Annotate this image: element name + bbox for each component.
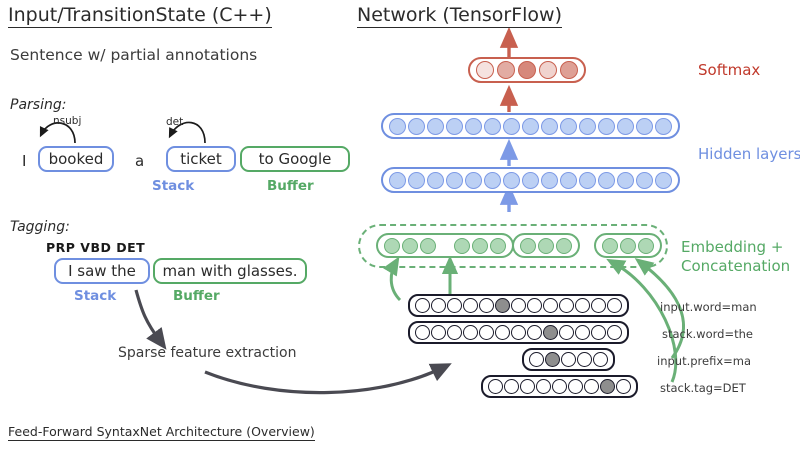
node-hollow	[504, 379, 519, 394]
node-blue	[560, 172, 577, 189]
node-filled	[543, 325, 558, 340]
tagging-stack-box[interactable]: I saw the	[54, 258, 150, 284]
node-blue	[465, 118, 482, 135]
node-hollow	[536, 379, 551, 394]
node-hollow	[488, 379, 503, 394]
embedding-group-0[interactable]	[376, 233, 514, 258]
feature-label-2: input.prefix=ma	[657, 354, 751, 368]
node-blue	[522, 118, 539, 135]
node-red	[539, 61, 557, 79]
parse-token-booked[interactable]: booked	[38, 146, 114, 172]
node-blue	[636, 118, 653, 135]
arc-label-det: det	[166, 116, 183, 128]
node-green	[472, 238, 488, 254]
node-green	[520, 238, 536, 254]
tagging-buffer-box[interactable]: man with glasses.	[153, 258, 307, 284]
node-red	[476, 61, 494, 79]
parse-token-booked-label: booked	[49, 150, 104, 168]
node-blue	[617, 172, 634, 189]
hidden-layer-top[interactable]	[381, 113, 680, 139]
node-blue	[427, 118, 444, 135]
node-hollow	[591, 325, 606, 340]
node-red	[518, 61, 536, 79]
node-hollow	[431, 325, 446, 340]
node-green	[384, 238, 400, 254]
sparse-vector-row-1[interactable]	[408, 321, 629, 344]
node-blue	[617, 118, 634, 135]
node-blue	[484, 118, 501, 135]
node-hollow	[415, 325, 430, 340]
node-blue	[636, 172, 653, 189]
node-hollow	[415, 298, 430, 313]
left-panel-title: Input/TransitionState (C++)	[8, 6, 272, 28]
node-hollow	[431, 298, 446, 313]
node-filled	[495, 298, 510, 313]
node-green	[402, 238, 418, 254]
node-blue	[655, 118, 672, 135]
node-hollow	[616, 379, 631, 394]
sparse-feature-extraction-label: Sparse feature extraction	[118, 345, 296, 361]
node-blue	[408, 172, 425, 189]
node-hollow	[593, 352, 608, 367]
node-hollow	[479, 325, 494, 340]
embedding-concatenation-label: Embedding + Concatenation	[681, 238, 790, 276]
node-blue	[598, 118, 615, 135]
node-green	[556, 238, 572, 254]
tagging-buffer-tokens: man with glasses.	[163, 262, 298, 280]
node-hollow	[575, 325, 590, 340]
node-blue	[655, 172, 672, 189]
parsing-section-label: Parsing:	[10, 97, 66, 113]
node-hollow	[529, 352, 544, 367]
node-red	[560, 61, 578, 79]
feature-label-1: stack.word=the	[662, 327, 753, 341]
parse-token-buffer-group[interactable]: to Google	[240, 146, 350, 172]
footer-caption: Feed-Forward SyntaxNet Architecture (Ove…	[8, 424, 315, 441]
node-green	[490, 238, 506, 254]
arc-label-nsubj: nsubj	[53, 115, 81, 127]
node-hollow	[479, 298, 494, 313]
tagging-buffer-label: Buffer	[173, 288, 220, 304]
left-panel-subtitle: Sentence w/ partial annotations	[10, 46, 257, 64]
node-green	[620, 238, 636, 254]
node-green	[638, 238, 654, 254]
node-filled	[545, 352, 560, 367]
parse-token-i: I	[22, 152, 26, 170]
node-blue	[427, 172, 444, 189]
diagram-canvas: Input/TransitionState (C++) Sentence w/ …	[0, 0, 800, 450]
node-blue	[598, 172, 615, 189]
softmax-label: Softmax	[698, 61, 760, 79]
node-green	[420, 238, 436, 254]
node-green	[454, 238, 470, 254]
node-hollow	[568, 379, 583, 394]
node-blue	[484, 172, 501, 189]
node-blue	[408, 118, 425, 135]
feature-label-0: input.word=man	[660, 300, 757, 314]
node-hollow	[559, 325, 574, 340]
node-green	[602, 238, 618, 254]
node-blue	[389, 118, 406, 135]
node-hollow	[575, 298, 590, 313]
node-hollow	[527, 325, 542, 340]
tagging-stack-label: Stack	[74, 288, 116, 304]
node-hollow	[511, 325, 526, 340]
node-hollow	[527, 298, 542, 313]
feature-label-3: stack.tag=DET	[660, 381, 746, 395]
node-blue	[541, 172, 558, 189]
node-red	[497, 61, 515, 79]
node-blue	[389, 172, 406, 189]
node-hollow	[543, 298, 558, 313]
node-hollow	[607, 298, 622, 313]
node-hollow	[577, 352, 592, 367]
node-hollow	[495, 325, 510, 340]
node-hollow	[463, 325, 478, 340]
node-blue	[503, 172, 520, 189]
parsing-buffer-label: Buffer	[267, 178, 314, 194]
node-filled	[600, 379, 615, 394]
hidden-layers-label: Hidden layers	[698, 145, 800, 163]
tagging-stack-tokens: I saw the	[68, 262, 136, 280]
node-hollow	[584, 379, 599, 394]
parse-token-ticket[interactable]: ticket	[166, 146, 236, 172]
parse-token-ticket-label: ticket	[180, 150, 222, 168]
node-blue	[465, 172, 482, 189]
node-blue	[579, 118, 596, 135]
node-hollow	[607, 325, 622, 340]
parsing-stack-label: Stack	[152, 178, 194, 194]
node-blue	[503, 118, 520, 135]
hidden-layer-bottom[interactable]	[381, 167, 680, 193]
node-hollow	[552, 379, 567, 394]
embedding-group-1[interactable]	[512, 233, 580, 258]
sparse-vector-row-2[interactable]	[522, 348, 615, 371]
parse-token-a: a	[135, 152, 144, 170]
node-blue	[541, 118, 558, 135]
sparse-vector-row-3[interactable]	[481, 375, 638, 398]
node-hollow	[561, 352, 576, 367]
node-blue	[446, 172, 463, 189]
node-hollow	[511, 298, 526, 313]
right-panel-title: Network (TensorFlow)	[357, 6, 562, 28]
node-green	[538, 238, 554, 254]
softmax-layer[interactable]	[468, 57, 586, 83]
node-blue	[522, 172, 539, 189]
sparse-vector-row-0[interactable]	[408, 294, 629, 317]
node-hollow	[559, 298, 574, 313]
node-hollow	[447, 325, 462, 340]
tagging-section-label: Tagging:	[10, 219, 70, 235]
tagging-pos-tags: PRP VBD DET	[46, 240, 145, 255]
node-hollow	[520, 379, 535, 394]
embedding-group-2[interactable]	[594, 233, 662, 258]
node-blue	[446, 118, 463, 135]
node-blue	[560, 118, 577, 135]
node-hollow	[463, 298, 478, 313]
node-hollow	[447, 298, 462, 313]
node-hollow	[591, 298, 606, 313]
node-blue	[579, 172, 596, 189]
parse-token-buffer-label: to Google	[259, 150, 332, 168]
